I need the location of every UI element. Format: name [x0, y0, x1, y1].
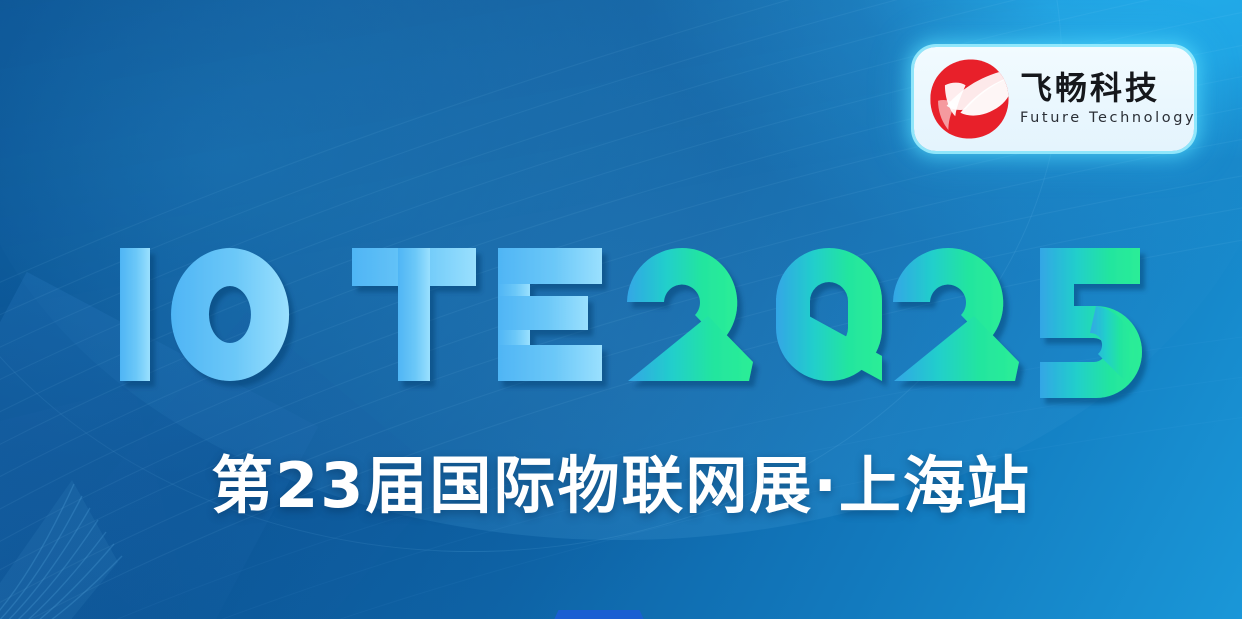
- logo-english-name: Future Technology: [1020, 110, 1196, 126]
- bottom-tab-accent: [553, 610, 645, 619]
- sponsor-logo-badge[interactable]: 飞畅科技 Future Technology: [914, 47, 1194, 151]
- headline-year-digits: [627, 248, 1142, 398]
- headline-svg: [112, 236, 1112, 396]
- feichang-logo-icon: [926, 56, 1012, 142]
- subtitle-text: 第23届国际物联网展·上海站: [0, 452, 1242, 520]
- headline-iote-2025: [112, 236, 1112, 396]
- iote-2025-banner: 飞畅科技 Future Technology: [0, 0, 1242, 619]
- logo-wordmark: 飞畅科技 Future Technology: [1020, 72, 1196, 127]
- logo-chinese-name: 飞畅科技: [1020, 72, 1196, 106]
- headline-iote-letters: [120, 248, 602, 381]
